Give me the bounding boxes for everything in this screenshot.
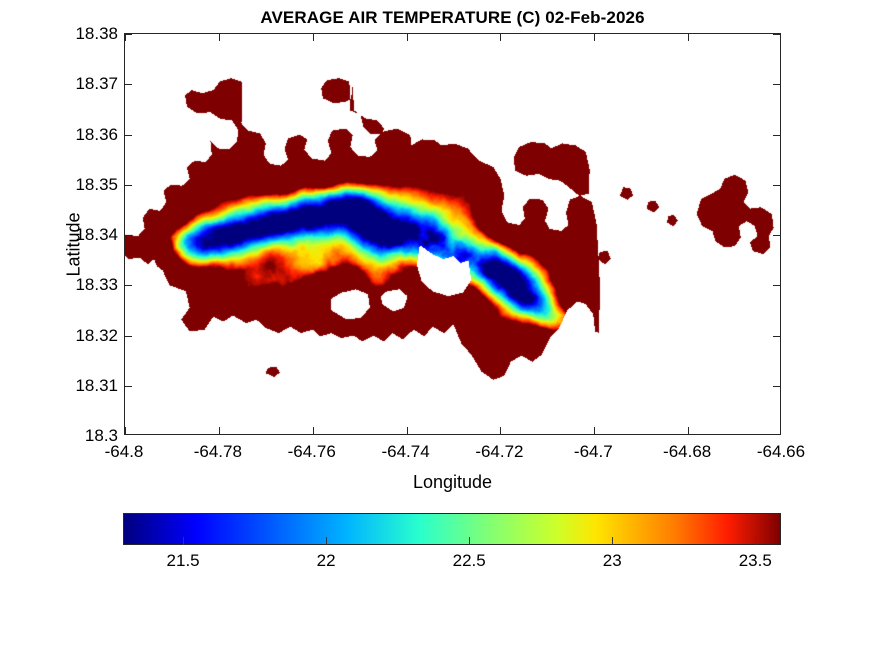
y-tick bbox=[773, 185, 780, 186]
colorbar-tick bbox=[326, 537, 327, 545]
y-tick bbox=[125, 34, 132, 35]
page-title: AVERAGE AIR TEMPERATURE (C) 02-Feb-2026 bbox=[124, 8, 781, 28]
y-tick bbox=[125, 285, 132, 286]
y-tick bbox=[125, 135, 132, 136]
y-ticklabel: 18.37 bbox=[8, 75, 118, 92]
y-ticklabel: 18.3 bbox=[8, 427, 118, 444]
colorbar-ticklabel: 22.5 bbox=[414, 552, 524, 570]
colorbar-ticklabel: 23 bbox=[557, 552, 667, 570]
y-axis-ticklabels: 18.318.3118.3218.3318.3418.3518.3618.371… bbox=[4, 33, 118, 435]
x-axis-label: Longitude bbox=[124, 472, 781, 493]
y-ticklabel: 18.36 bbox=[8, 126, 118, 143]
colorbar-ticklabel: 22 bbox=[271, 552, 381, 570]
x-tick bbox=[219, 34, 220, 41]
map-axes[interactable] bbox=[124, 33, 781, 435]
y-tick bbox=[773, 386, 780, 387]
y-tick bbox=[773, 336, 780, 337]
y-tick bbox=[773, 34, 780, 35]
x-tick bbox=[219, 427, 220, 434]
y-tick bbox=[125, 185, 132, 186]
x-tick bbox=[125, 34, 126, 41]
x-tick bbox=[688, 427, 689, 434]
y-tick bbox=[125, 336, 132, 337]
colorbar-gradient bbox=[123, 513, 781, 545]
y-axis-label: Latitude bbox=[64, 165, 85, 325]
x-ticklabel: -64.66 bbox=[721, 443, 841, 460]
x-tick bbox=[407, 34, 408, 41]
colorbar-tick bbox=[755, 537, 756, 545]
temperature-heatmap-raster bbox=[125, 34, 781, 435]
x-axis-ticklabels: -64.8-64.78-64.76-64.74-64.72-64.7-64.68… bbox=[124, 443, 781, 467]
colorbar-ticklabel: 23.5 bbox=[700, 552, 810, 570]
y-tick bbox=[125, 84, 132, 85]
y-ticklabel: 18.38 bbox=[8, 25, 118, 42]
colorbar-ticklabel: 21.5 bbox=[128, 552, 238, 570]
y-ticklabel: 18.32 bbox=[8, 327, 118, 344]
x-tick bbox=[688, 34, 689, 41]
x-tick bbox=[500, 427, 501, 434]
x-tick bbox=[500, 34, 501, 41]
colorbar-tick bbox=[183, 537, 184, 545]
x-tick bbox=[407, 427, 408, 434]
colorbar-tick bbox=[612, 537, 613, 545]
y-tick bbox=[773, 285, 780, 286]
x-tick bbox=[313, 427, 314, 434]
y-ticklabel: 18.31 bbox=[8, 377, 118, 394]
matlab-figure: AVERAGE AIR TEMPERATURE (C) 02-Feb-2026 … bbox=[0, 0, 875, 656]
colorbar-tick bbox=[469, 537, 470, 545]
y-tick bbox=[125, 386, 132, 387]
y-tick bbox=[773, 135, 780, 136]
x-tick bbox=[594, 427, 595, 434]
colorbar-ticklabels: 21.52222.52323.5 bbox=[123, 552, 781, 576]
colorbar[interactable] bbox=[123, 513, 781, 545]
y-tick bbox=[773, 235, 780, 236]
x-tick bbox=[313, 34, 314, 41]
y-tick bbox=[773, 84, 780, 85]
x-tick bbox=[125, 427, 126, 434]
x-tick bbox=[594, 34, 595, 41]
y-tick bbox=[125, 235, 132, 236]
